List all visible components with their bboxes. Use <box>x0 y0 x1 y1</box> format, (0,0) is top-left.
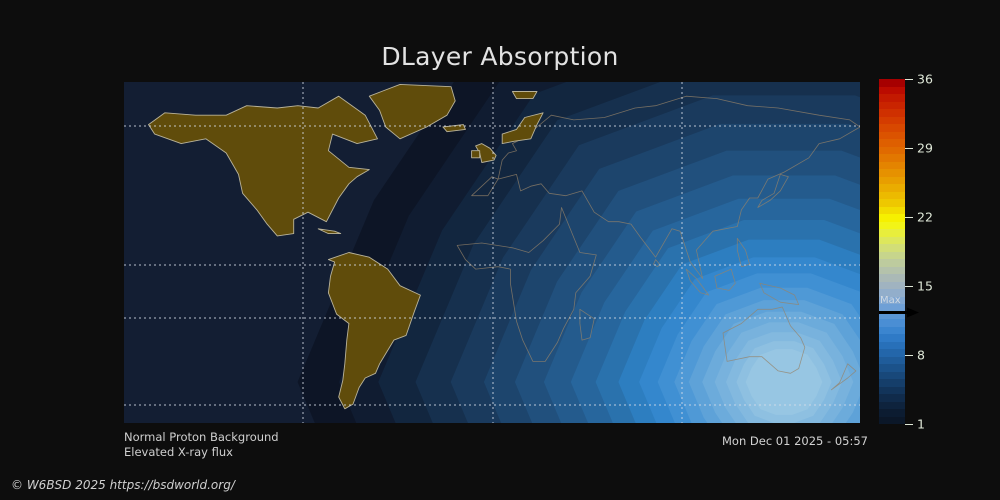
colorbar-segment <box>879 214 905 222</box>
colorbar-segment <box>879 162 905 170</box>
colorbar-segment <box>879 417 905 425</box>
colorbar-segment <box>879 274 905 282</box>
timestamp: Mon Dec 01 2025 - 05:57 <box>722 434 868 448</box>
max-arrow-icon <box>879 307 921 318</box>
colorbar[interactable] <box>879 79 905 424</box>
colorbar-segment <box>879 132 905 140</box>
status-note-proton: Normal Proton Background <box>124 430 279 444</box>
colorbar-segment <box>879 199 905 207</box>
colorbar-segment <box>879 222 905 230</box>
colorbar-segment <box>879 282 905 290</box>
colorbar-segment <box>879 94 905 102</box>
colorbar-segment <box>879 372 905 380</box>
colorbar-segment <box>879 124 905 132</box>
colorbar-segment <box>879 139 905 147</box>
colorbar-segment <box>879 184 905 192</box>
colorbar-tick-mark <box>905 286 913 287</box>
world-map[interactable] <box>124 82 860 423</box>
colorbar-tick-mark <box>905 148 913 149</box>
colorbar-segment <box>879 192 905 200</box>
colorbar-segment <box>879 79 905 87</box>
graticule-layer <box>124 82 860 423</box>
colorbar-segment <box>879 229 905 237</box>
colorbar-segment <box>879 402 905 410</box>
colorbar-segment <box>879 387 905 395</box>
colorbar-segment <box>879 267 905 275</box>
colorbar-segment <box>879 207 905 215</box>
colorbar-segment <box>879 154 905 162</box>
colorbar-tick-mark <box>905 217 913 218</box>
colorbar-segment <box>879 169 905 177</box>
colorbar-axis-label: Affected Frequency (MHz) <box>922 79 1000 424</box>
page-title: DLayer Absorption <box>0 42 1000 71</box>
colorbar-segment <box>879 87 905 95</box>
colorbar-tick-mark <box>905 424 913 425</box>
colorbar-segment <box>879 102 905 110</box>
max-marker-label: Max <box>880 296 901 306</box>
colorbar-max-marker: Max <box>879 296 925 318</box>
colorbar-segment <box>879 379 905 387</box>
copyright-notice: © W6BSD 2025 https://bsdworld.org/ <box>11 478 235 492</box>
colorbar-segment <box>879 252 905 260</box>
colorbar-segment <box>879 334 905 342</box>
colorbar-segment <box>879 364 905 372</box>
colorbar-segment <box>879 244 905 252</box>
colorbar-segment <box>879 117 905 125</box>
colorbar-segment <box>879 237 905 245</box>
colorbar-segment <box>879 327 905 335</box>
status-note-xray: Elevated X-ray flux <box>124 445 233 459</box>
colorbar-segment <box>879 177 905 185</box>
dlayer-absorption-screen: DLayer Absorption 3629221581 Max Affecte… <box>0 0 1000 500</box>
colorbar-segment <box>879 409 905 417</box>
colorbar-segment <box>879 319 905 327</box>
colorbar-segment <box>879 342 905 350</box>
colorbar-segment <box>879 259 905 267</box>
colorbar-segment <box>879 357 905 365</box>
colorbar-tick-mark <box>905 355 913 356</box>
colorbar-segment <box>879 147 905 155</box>
colorbar-tick-mark <box>905 79 913 80</box>
colorbar-segment <box>879 349 905 357</box>
colorbar-segment <box>879 394 905 402</box>
colorbar-segment <box>879 109 905 117</box>
